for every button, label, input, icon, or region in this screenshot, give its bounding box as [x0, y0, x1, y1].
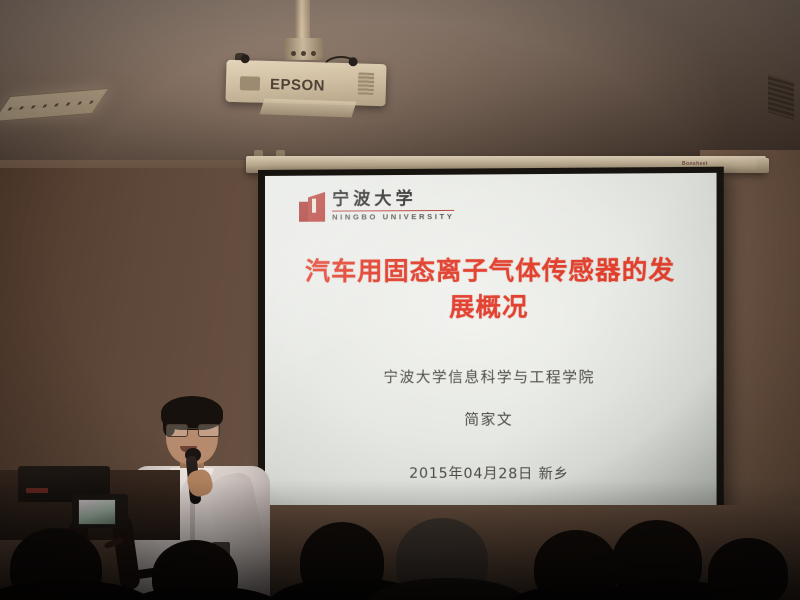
- audience-head-7: [708, 538, 788, 600]
- camera-lcd-screen: [78, 499, 116, 525]
- audience-shoulders-2: [120, 586, 286, 600]
- lecture-hall-photo: EPSON Bonsheet 宁波大学: [0, 0, 800, 600]
- audience-foreground: [0, 0, 800, 600]
